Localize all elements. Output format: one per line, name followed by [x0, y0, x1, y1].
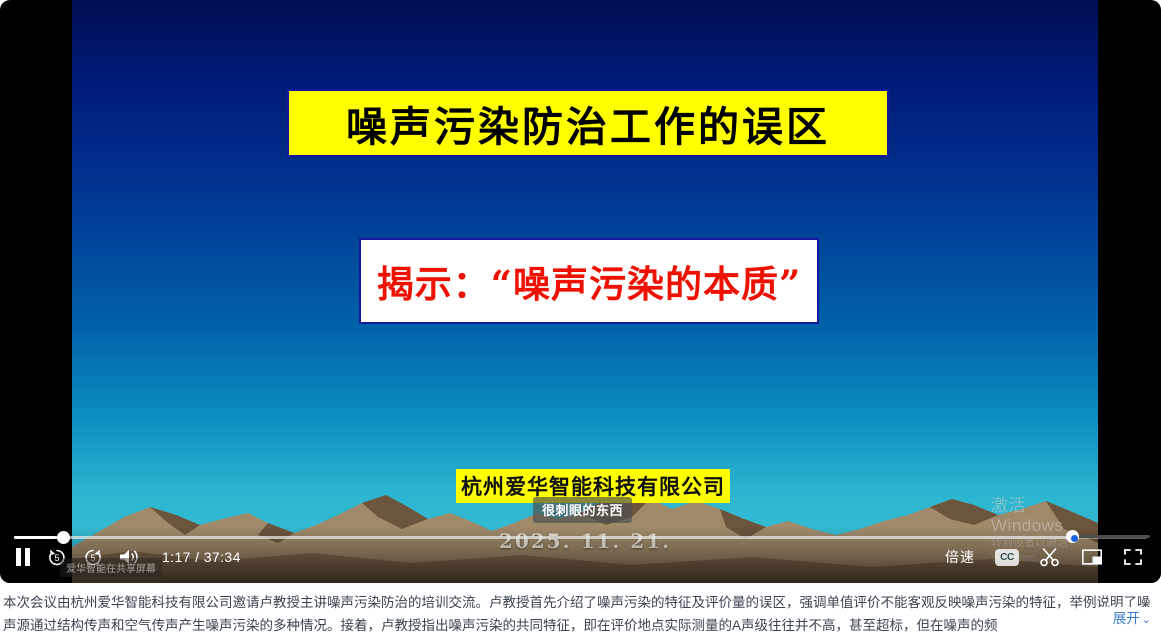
pause-button[interactable] — [14, 547, 32, 567]
rewind-5-icon: 5 — [46, 546, 68, 568]
volume-track — [1072, 535, 1150, 538]
slide-title-text: 噪声污染防治工作的误区 — [346, 93, 830, 153]
svg-text:5: 5 — [90, 553, 95, 563]
video-description-text: 本次会议由杭州爱华智能科技有限公司邀请卢教授主讲噪声污染防治的培训交流。卢教授首… — [3, 591, 1151, 637]
video-player[interactable]: 噪声污染防治工作的误区 揭示：“噪声污染的本质” 杭州爱华智能科技有限公司 20… — [0, 0, 1161, 583]
svg-text:5: 5 — [54, 553, 59, 563]
forward-5-button[interactable]: 5 — [82, 546, 104, 568]
volume-icon — [118, 547, 142, 567]
fullscreen-button[interactable] — [1123, 548, 1143, 566]
slide-subtitle-box: 揭示：“噪声污染的本质” — [359, 238, 819, 324]
fullscreen-icon — [1123, 548, 1143, 566]
scissors-icon — [1039, 547, 1061, 567]
bullet-comment: 很刺眼的东西 — [533, 497, 632, 523]
video-description: 本次会议由杭州爱华智能科技有限公司邀请卢教授主讲噪声污染防治的培训交流。卢教授首… — [0, 585, 1161, 637]
volume-button[interactable] — [118, 547, 142, 567]
forward-5-icon: 5 — [82, 546, 104, 568]
video-stage[interactable]: 噪声污染防治工作的误区 揭示：“噪声污染的本质” 杭州爱华智能科技有限公司 20… — [72, 0, 1098, 583]
pause-icon — [14, 547, 32, 567]
time-display: 1:17 / 37:34 — [162, 549, 241, 565]
picture-in-picture-button[interactable] — [1081, 548, 1103, 566]
playback-speed-button[interactable]: 倍速 — [945, 547, 975, 567]
controls-right-cluster: 倍速 CC — [945, 540, 1143, 574]
pip-icon — [1081, 548, 1103, 566]
description-expand-button[interactable]: 展开⌄ — [1099, 607, 1151, 632]
progress-played — [14, 536, 63, 539]
clip-scissors-button[interactable] — [1039, 547, 1061, 567]
slide-subtitle-text: 揭示：“噪声污染的本质” — [377, 254, 802, 308]
description-expand-label: 展开 — [1113, 611, 1140, 626]
rewind-5-button[interactable]: 5 — [46, 546, 68, 568]
controls-left-cluster: 5 5 1:17 / 37:34 — [14, 540, 241, 574]
progress-buffered — [14, 536, 1068, 539]
chevron-down-icon: ⌄ — [1142, 614, 1151, 626]
captions-cc-button[interactable]: CC — [995, 549, 1019, 566]
slide-title-box: 噪声污染防治工作的误区 — [287, 89, 889, 157]
